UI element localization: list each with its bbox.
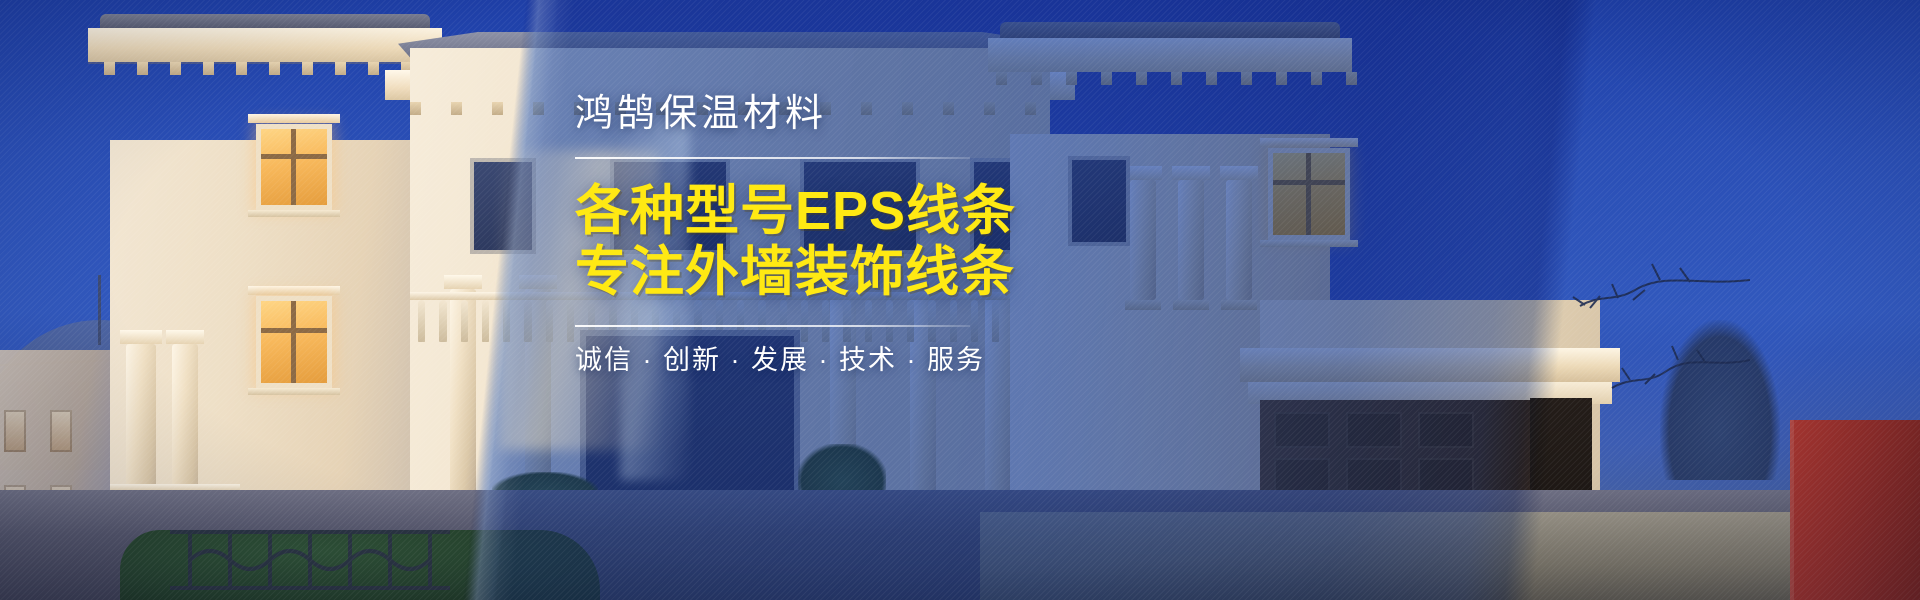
divider-bottom-wrap	[575, 325, 1335, 327]
divider-bottom	[575, 325, 970, 327]
tagline: 诚信 · 创新 · 发展 · 技术 · 服务	[575, 347, 1335, 374]
divider-top	[575, 157, 970, 159]
headline-line-2: 专注外墙装饰线条	[575, 242, 1335, 303]
promo-banner: 鸿鹄保温材料 各种型号EPS线条 专注外墙装饰线条 诚信 · 创新 · 发展 ·…	[0, 0, 1920, 600]
headline-group: 各种型号EPS线条 专注外墙装饰线条	[575, 181, 1335, 303]
headline-line-1: 各种型号EPS线条	[575, 181, 1335, 242]
banner-copy: 鸿鹄保温材料 各种型号EPS线条 专注外墙装饰线条 诚信 · 创新 · 发展 ·…	[575, 95, 1335, 374]
brand-name: 鸿鹄保温材料	[575, 95, 1335, 133]
